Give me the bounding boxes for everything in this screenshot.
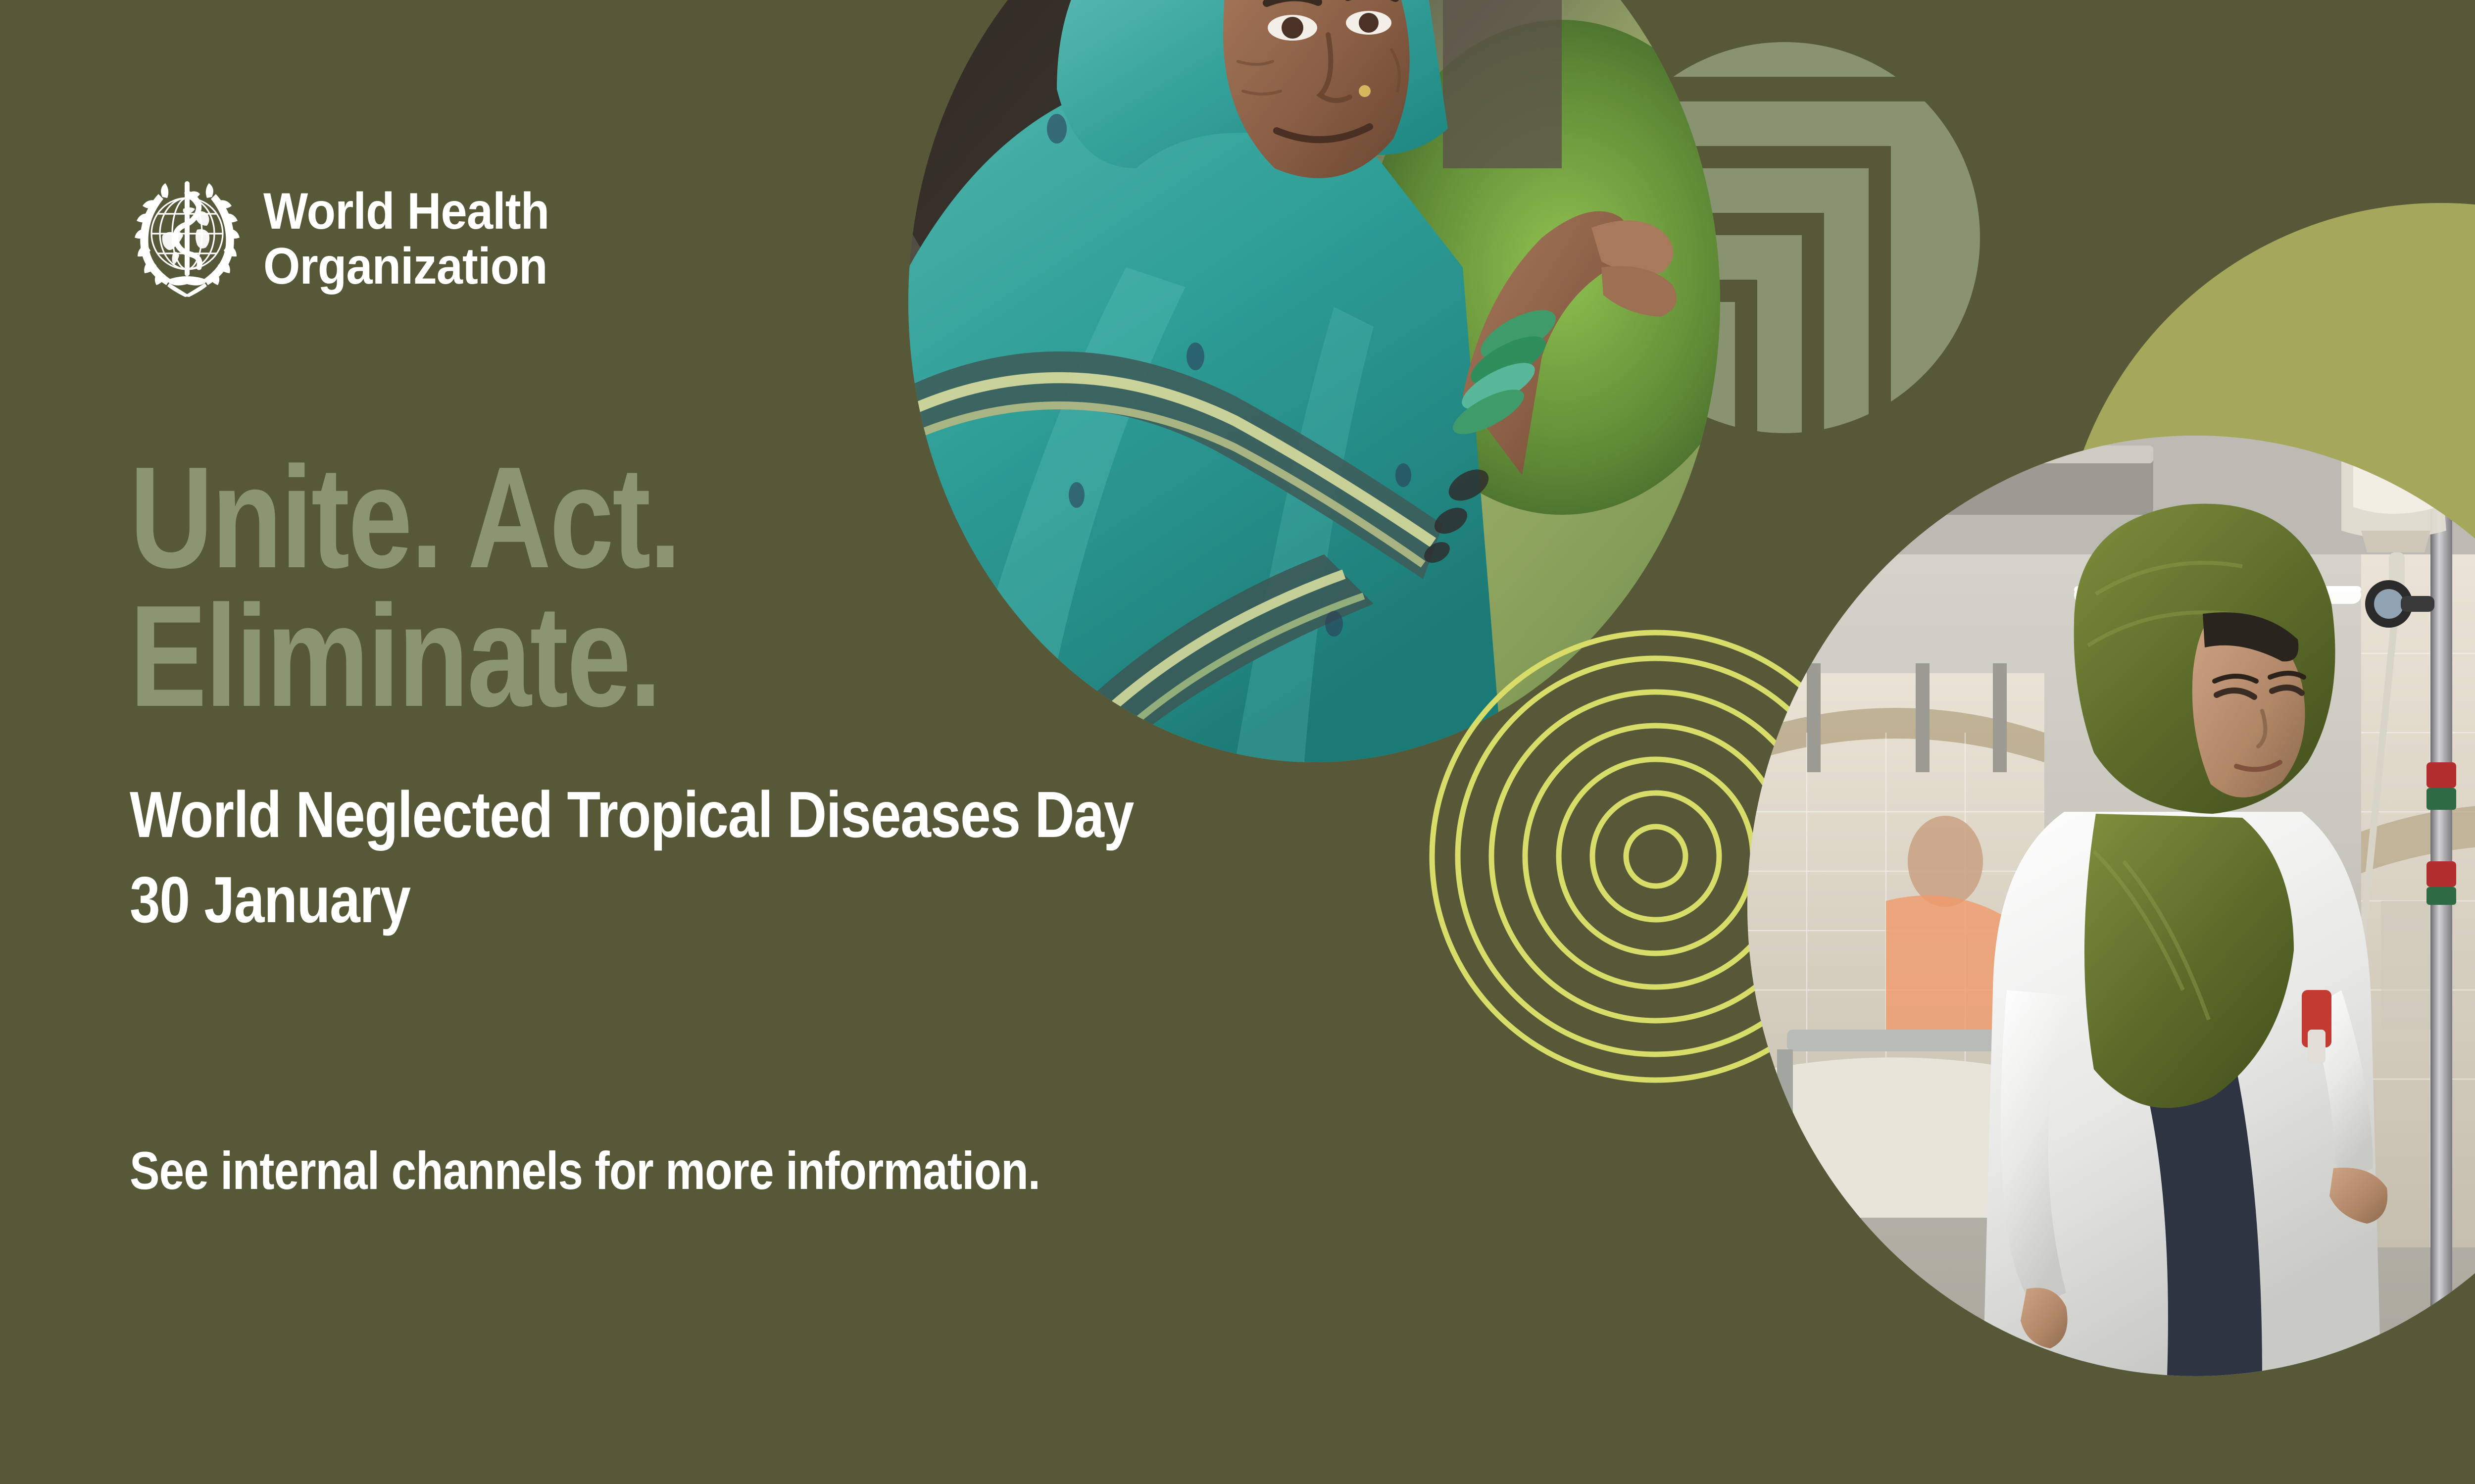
subheading-event-date: 30 January xyxy=(130,857,1134,942)
subheading-event-name: World Neglected Tropical Diseases Day xyxy=(130,772,1134,857)
who-wordmark-line-1: World Health xyxy=(263,184,549,239)
footnote-text: See internal channels for more informati… xyxy=(130,1138,1040,1203)
headline: Unite. Act. Eliminate. xyxy=(130,448,680,726)
subheading: World Neglected Tropical Diseases Day 30… xyxy=(130,772,1134,942)
who-wordmark: World Health Organization xyxy=(263,184,549,293)
who-emblem xyxy=(128,178,247,299)
who-ntd-day-banner: World Health Organization Unite. Act. El… xyxy=(0,0,2475,1484)
headline-line-2: Eliminate. xyxy=(130,587,680,725)
photo-nurse xyxy=(1747,436,2475,1376)
who-wordmark-line-2: Organization xyxy=(263,239,549,294)
who-logo: World Health Organization xyxy=(128,178,574,299)
headline-line-1: Unite. Act. xyxy=(130,448,680,587)
